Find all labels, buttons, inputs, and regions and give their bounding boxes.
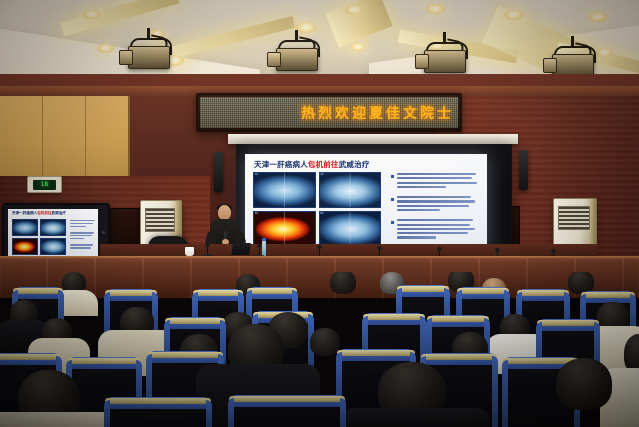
monitor-title-main: 天津一肝癌病人 — [12, 211, 37, 215]
ct-scan-image: A2 — [319, 172, 382, 208]
seated-audience — [0, 272, 639, 427]
monitor-bullet-lines — [70, 220, 96, 250]
audience-shoulders — [0, 412, 116, 427]
wall-speaker-left — [214, 152, 223, 192]
audience-head-foreground — [556, 358, 612, 410]
monitor-scan-grid — [12, 219, 66, 255]
spotlight-body — [128, 46, 170, 69]
scan-tag: A1 — [255, 173, 258, 176]
scan-tag: A2 — [321, 173, 324, 176]
ceiling-downlight — [504, 10, 523, 20]
wall-panel-light — [0, 96, 130, 180]
ceiling-downlight — [83, 10, 100, 19]
bullet-text-lines — [397, 196, 479, 213]
slide-bullet — [391, 219, 479, 240]
led-banner: 热烈欢迎夏佳文院士 — [196, 93, 462, 132]
laptop — [231, 243, 251, 255]
scan-crosshair — [254, 173, 315, 207]
spotlight-body — [424, 50, 466, 73]
auditorium-photo: 18 热烈欢迎夏佳文院士 天津一肝癌病人包机前往武威治疗 A1 A2 — [0, 0, 639, 427]
auditorium-seat[interactable] — [108, 404, 208, 427]
spotlight-body — [276, 48, 318, 71]
white-cup — [185, 247, 194, 256]
spotlight-lens — [119, 50, 133, 65]
scan-tag: B2 — [321, 212, 324, 215]
audience-shoulders — [340, 408, 490, 427]
ct-scan-image — [40, 238, 66, 255]
slide-title-highlight: 包机前往 — [308, 160, 339, 169]
slide-title-main: 天津一肝癌病人 — [254, 160, 308, 169]
slide-content: 天津一肝癌病人包机前往武威治疗 A1 A2 B1 B2 — [245, 154, 487, 252]
monitor-slide-title: 天津一肝癌病人包机前往武威治疗 — [12, 211, 66, 216]
slide-bullet-list — [391, 173, 479, 247]
ct-scan-image: B2 — [319, 211, 382, 247]
ct-scan-image: A1 — [253, 172, 316, 208]
ct-scan-image — [40, 219, 66, 236]
table-microphone — [206, 243, 209, 255]
wall-speaker-right — [519, 150, 528, 190]
slide-title: 天津一肝癌病人包机前往武威治疗 — [254, 159, 370, 170]
ceiling-downlight — [296, 22, 316, 33]
monitor-title-tail: 武威治疗 — [52, 211, 66, 215]
bullet-text-lines — [397, 173, 479, 190]
scan-crosshair — [320, 173, 381, 207]
medical-scan-grid: A1 A2 B1 B2 — [253, 172, 381, 246]
ceiling-downlight — [97, 44, 114, 53]
led-banner-text: 热烈欢迎夏佳文院士 — [301, 103, 458, 123]
ceiling-downlight — [351, 43, 365, 51]
bottle-cap — [262, 238, 266, 241]
slide-title-tail: 武威治疗 — [339, 160, 370, 169]
panel-seam — [42, 96, 43, 180]
slide-bullet — [391, 173, 479, 190]
spotlight-lens — [267, 52, 281, 67]
bullet-text-lines — [397, 219, 479, 240]
clock-lcd-readout: 18 — [33, 180, 56, 190]
ceiling-downlight — [345, 5, 363, 15]
scan-tag: B1 — [255, 212, 258, 215]
table-microphone — [258, 244, 261, 256]
ct-scan-image — [12, 219, 38, 236]
scan-crosshair — [320, 212, 381, 246]
bullet-marker-icon — [391, 221, 394, 224]
spotlight-lens — [415, 54, 429, 69]
monitor-power-button[interactable] — [102, 231, 105, 234]
monitor-screen: 天津一肝癌病人包机前往武威治疗 — [8, 209, 98, 263]
presenter-head — [218, 205, 231, 220]
ac-grille — [558, 206, 590, 230]
auditorium-seat[interactable] — [232, 402, 342, 427]
panel-seam — [85, 96, 86, 180]
bullet-marker-icon — [391, 175, 394, 178]
monitor-title-highlight: 包机前往 — [37, 211, 51, 215]
pet-scan-image — [12, 238, 38, 255]
led-banner-screen: 热烈欢迎夏佳文院士 — [200, 97, 458, 128]
projection-screen-valance — [228, 134, 518, 144]
water-bottle — [262, 241, 266, 256]
wall-digital-clock: 18 — [27, 176, 62, 193]
spotlight-lens — [543, 58, 557, 73]
ceiling-downlight — [596, 48, 613, 57]
ceiling-downlight — [426, 4, 445, 14]
slide-bullet — [391, 196, 479, 213]
bullet-marker-icon — [391, 198, 394, 201]
ac-grille — [145, 208, 176, 232]
audience-head — [310, 328, 340, 356]
audience-head — [330, 272, 356, 294]
ceiling-downlight — [588, 12, 607, 22]
